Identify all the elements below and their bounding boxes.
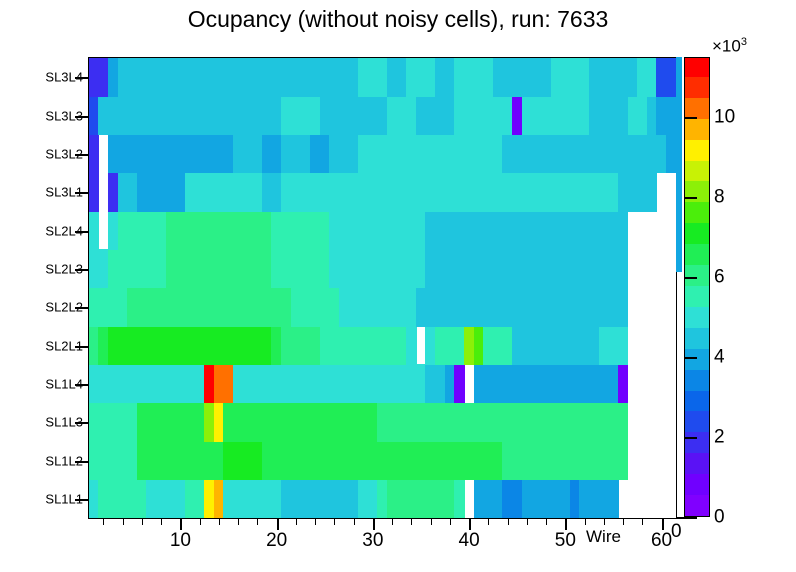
colorbar-exponent: ×103 — [712, 36, 747, 57]
colorbar-tick-label: 2 — [714, 428, 725, 447]
x-axis-minor-tick — [354, 518, 355, 525]
colorbar-tick-label: 10 — [714, 108, 735, 127]
x-axis-minor-tick — [103, 518, 104, 525]
y-axis-label-sl3l3: SL3L3 — [45, 109, 83, 122]
colorbar-band — [685, 139, 709, 161]
x-axis-title: Wire — [586, 527, 621, 547]
colorbar-band — [685, 265, 709, 287]
colorbar-tick — [684, 117, 697, 119]
colorbar-tick-label: 0 — [714, 508, 725, 527]
x-axis-minor-tick — [392, 518, 393, 525]
colorbar-edge-strip — [676, 57, 682, 177]
heatmap-cell — [618, 326, 628, 365]
colorbar-band — [685, 285, 709, 307]
x-axis-tick — [565, 518, 567, 530]
x-axis-minor-tick — [238, 518, 239, 525]
colorbar — [684, 57, 710, 517]
heatmap-cell — [666, 134, 676, 173]
x-axis-tick-label: 50 — [555, 530, 576, 552]
colorbar-tick — [684, 437, 697, 439]
heatmap-cell — [406, 326, 416, 365]
x-axis-tick-label: 30 — [362, 530, 383, 552]
heatmap-cell — [89, 173, 99, 212]
heatmap-cell — [89, 211, 99, 250]
colorbar-zero-label: 0 — [671, 521, 682, 543]
colorbar-tick — [684, 277, 697, 279]
x-axis-tick — [180, 518, 182, 530]
heatmap-cell — [618, 249, 628, 288]
x-axis-tick — [277, 518, 279, 530]
x-axis-minor-tick — [585, 518, 586, 525]
y-axis-label-sl3l4: SL3L4 — [45, 71, 83, 84]
x-axis-minor-tick — [527, 518, 528, 525]
x-axis-minor-tick — [546, 518, 547, 525]
colorbar-band — [685, 97, 709, 119]
y-axis-label-sl1l4: SL1L4 — [45, 377, 83, 390]
y-axis-label-sl2l3: SL2L3 — [45, 262, 83, 275]
colorbar-tick — [684, 197, 697, 199]
y-axis-label-sl3l2: SL3L2 — [45, 147, 83, 160]
colorbar-tick-label: 8 — [714, 188, 725, 207]
colorbar-band — [685, 474, 709, 496]
heatmap-cell — [618, 211, 628, 250]
x-axis-minor-tick — [296, 518, 297, 525]
x-axis-minor-tick — [142, 518, 143, 525]
x-axis-minor-tick — [604, 518, 605, 525]
plot-area: SL1L1SL1L2SL1L3SL1L4SL2L1SL2L2SL2L3SL2L4… — [88, 57, 677, 519]
colorbar-zero-tick — [676, 517, 684, 519]
x-axis-minor-tick — [431, 518, 432, 525]
heatmap-cell — [89, 134, 99, 173]
x-axis-minor-tick — [334, 518, 335, 525]
x-axis-minor-tick — [123, 518, 124, 525]
colorbar-band — [685, 244, 709, 266]
x-axis-tick-label: 40 — [459, 530, 480, 552]
colorbar-band — [685, 202, 709, 224]
x-axis-minor-tick — [411, 518, 412, 525]
colorbar-band — [685, 327, 709, 349]
x-axis-minor-tick — [508, 518, 509, 525]
colorbar-band — [685, 118, 709, 140]
chart-canvas: Ocupancy (without noisy cells), run: 763… — [0, 0, 796, 572]
heatmap-cell — [618, 441, 628, 480]
heatmap-cell — [618, 288, 628, 327]
x-axis-minor-tick — [450, 518, 451, 525]
x-axis-tick — [373, 518, 375, 530]
x-axis-tick-label: 10 — [170, 530, 191, 552]
colorbar-tick — [684, 517, 697, 519]
y-axis-label-sl2l2: SL2L2 — [45, 301, 83, 314]
y-axis-label-sl3l1: SL3L1 — [45, 186, 83, 199]
colorbar-band — [685, 181, 709, 203]
colorbar-tick-label: 6 — [714, 268, 725, 287]
x-axis-tick-label: 20 — [266, 530, 287, 552]
x-axis-minor-tick — [315, 518, 316, 525]
chart-title: Ocupancy (without noisy cells), run: 763… — [0, 6, 796, 33]
x-axis-minor-tick — [200, 518, 201, 525]
x-axis-minor-tick — [623, 518, 624, 525]
x-axis-minor-tick — [642, 518, 643, 525]
colorbar-exponent-power: 3 — [741, 36, 747, 48]
x-axis-tick-label: 60 — [651, 530, 672, 552]
colorbar-tick-label: 4 — [714, 348, 725, 367]
y-axis-label-sl1l3: SL1L3 — [45, 416, 83, 429]
colorbar-band — [685, 160, 709, 182]
colorbar-band — [685, 390, 709, 412]
x-axis-minor-tick — [488, 518, 489, 525]
colorbar-band — [685, 57, 709, 77]
colorbar-band — [685, 495, 709, 517]
heatmap-cell — [618, 364, 628, 403]
heatmap-cell — [666, 96, 676, 135]
y-axis-label-sl1l2: SL1L2 — [45, 454, 83, 467]
heatmap-cell — [618, 403, 628, 442]
colorbar-tick — [684, 357, 697, 359]
x-axis-minor-tick — [161, 518, 162, 525]
colorbar-band — [685, 223, 709, 245]
heatmap-cells — [89, 58, 676, 518]
x-axis-tick — [662, 518, 664, 530]
colorbar-band — [685, 76, 709, 98]
x-axis-tick — [469, 518, 471, 530]
heatmap-cell — [647, 173, 657, 212]
colorbar-band — [685, 432, 709, 454]
y-axis-label-sl1l1: SL1L1 — [45, 492, 83, 505]
colorbar-band — [685, 306, 709, 328]
heatmap-cell — [666, 58, 676, 97]
x-axis-minor-tick — [257, 518, 258, 525]
heatmap-cell — [608, 479, 618, 518]
heatmap-cell — [454, 364, 464, 403]
colorbar-exponent-base: ×10 — [712, 37, 741, 56]
y-axis-label-sl2l1: SL2L1 — [45, 339, 83, 352]
heatmap-cell — [454, 479, 464, 518]
colorbar-band — [685, 369, 709, 391]
colorbar-band — [685, 453, 709, 475]
y-axis-label-sl2l4: SL2L4 — [45, 224, 83, 237]
x-axis-minor-tick — [219, 518, 220, 525]
colorbar-band — [685, 411, 709, 433]
colorbar-edge-strip — [676, 177, 682, 272]
